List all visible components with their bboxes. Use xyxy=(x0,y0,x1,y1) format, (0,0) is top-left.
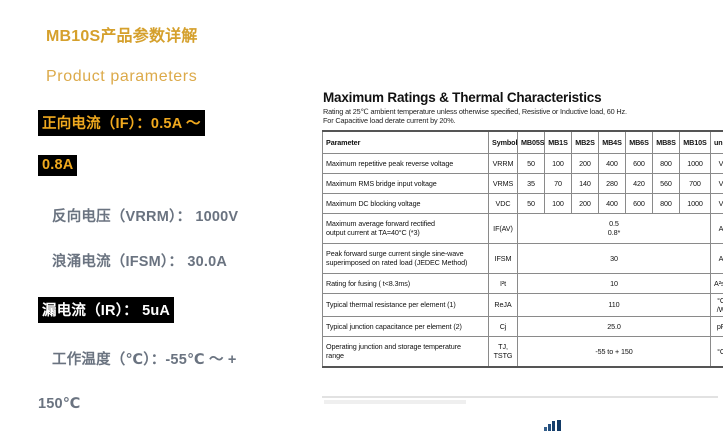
page-subtitle: Product parameters xyxy=(46,68,197,86)
table-row: Maximum repetitive peak reverse voltage … xyxy=(323,153,723,173)
row-parameter-line1: Peak forward surge current single sine-w… xyxy=(326,249,464,258)
col-header-unit: unit xyxy=(711,131,723,154)
spec-leakage-current: 漏电流（IR）： 5uA xyxy=(38,297,174,323)
row-merged-value: 10 xyxy=(518,273,711,293)
row-value: 800 xyxy=(653,193,680,213)
maximum-ratings-table: Parameter Symbol MB05S MB1S MB2S MB4S MB… xyxy=(322,130,723,368)
row-symbol: VDC xyxy=(489,193,518,213)
row-parameter-line1: Operating junction and storage temperatu… xyxy=(326,342,461,351)
row-value: 100 xyxy=(545,153,572,173)
row-merged-value: 0.5 0.8* xyxy=(518,213,711,243)
row-unit: A xyxy=(711,213,723,243)
row-symbol-line1: TJ, xyxy=(498,342,508,351)
row-symbol: VRRM xyxy=(489,153,518,173)
row-symbol: IFSM xyxy=(489,243,518,273)
table-row: Operating junction and storage temperatu… xyxy=(323,336,723,367)
row-value: 420 xyxy=(626,173,653,193)
row-symbol: IF(AV) xyxy=(489,213,518,243)
row-symbol: TJ, TSTG xyxy=(489,336,518,367)
col-header-mb05s: MB05S xyxy=(518,131,545,154)
row-value: 600 xyxy=(626,193,653,213)
row-unit: A²sec xyxy=(711,273,723,293)
row-value: 800 xyxy=(653,153,680,173)
row-value: 50 xyxy=(518,193,545,213)
page-title: MB10S产品参数详解 xyxy=(46,22,198,46)
spec-reverse-voltage: 反向电压（VRRM）： 1000V xyxy=(52,205,238,226)
table-header-row: Parameter Symbol MB05S MB1S MB2S MB4S MB… xyxy=(323,131,723,154)
row-parameter: Maximum DC blocking voltage xyxy=(323,193,489,213)
row-merged-value: 110 xyxy=(518,293,711,316)
row-merged-value: 30 xyxy=(518,243,711,273)
row-value: 50 xyxy=(518,153,545,173)
row-value: 400 xyxy=(599,193,626,213)
row-value: 600 xyxy=(626,153,653,173)
spec-operating-temperature-line2: 150℃ xyxy=(38,396,81,412)
row-unit: A xyxy=(711,243,723,273)
row-unit: pF xyxy=(711,316,723,336)
row-value: 1000 xyxy=(680,193,711,213)
row-parameter: Peak forward surge current single sine-w… xyxy=(323,243,489,273)
table-row: Rating for fusing ( t<8.3ms) I²t 10 A²se… xyxy=(323,273,723,293)
spec-forward-current-line2: 0.8A xyxy=(38,155,77,176)
datasheet-note: Rating at 25℃ ambient temperature unless… xyxy=(323,107,717,126)
row-value: 400 xyxy=(599,153,626,173)
spec-forward-current-line1: 正向电流（IF）：0.5A ～ xyxy=(38,110,205,136)
row-merged-value: 25.0 xyxy=(518,316,711,336)
bar-chart-watermark-icon xyxy=(544,419,562,431)
row-value: 200 xyxy=(572,153,599,173)
col-header-parameter: Parameter xyxy=(323,131,489,154)
row-unit: V xyxy=(711,193,723,213)
row-value: 100 xyxy=(545,193,572,213)
row-merged-value: -55 to + 150 xyxy=(518,336,711,367)
row-parameter-line1: Maximum average forward rectified xyxy=(326,219,435,228)
row-value: 280 xyxy=(599,173,626,193)
row-parameter: Operating junction and storage temperatu… xyxy=(323,336,489,367)
col-header-mb8s: MB8S xyxy=(653,131,680,154)
datasheet-panel: Maximum Ratings & Thermal Characteristic… xyxy=(322,90,717,368)
spec-operating-temperature-line1: 工作温度（℃）：-55℃ ～ + xyxy=(52,348,237,369)
row-unit: °C xyxy=(711,336,723,367)
row-parameter: Maximum repetitive peak reverse voltage xyxy=(323,153,489,173)
table-row: Maximum DC blocking voltage VDC 50 100 2… xyxy=(323,193,723,213)
row-unit: °C /W xyxy=(711,293,723,316)
row-value: 560 xyxy=(653,173,680,193)
row-value: 700 xyxy=(680,173,711,193)
table-row: Typical junction capacitance per element… xyxy=(323,316,723,336)
row-merged-line2: 0.8* xyxy=(608,228,620,237)
datasheet-note-line1: Rating at 25℃ ambient temperature unless… xyxy=(323,107,627,116)
row-symbol: I²t xyxy=(489,273,518,293)
col-header-mb6s: MB6S xyxy=(626,131,653,154)
row-value: 35 xyxy=(518,173,545,193)
row-parameter: Maximum average forward rectified output… xyxy=(323,213,489,243)
scan-smudge-block xyxy=(324,400,466,404)
row-parameter: Typical thermal resistance per element (… xyxy=(323,293,489,316)
left-parameter-panel: MB10S产品参数详解 Product parameters 正向电流（IF）：… xyxy=(0,0,318,431)
row-value: 1000 xyxy=(680,153,711,173)
row-parameter-line2: output current at TA=40°C (*3) xyxy=(326,228,420,237)
col-header-mb2s: MB2S xyxy=(572,131,599,154)
row-value: 70 xyxy=(545,173,572,193)
table-row: Peak forward surge current single sine-w… xyxy=(323,243,723,273)
col-header-mb10s: MB10S xyxy=(680,131,711,154)
row-unit: V xyxy=(711,173,723,193)
row-symbol: ReJA xyxy=(489,293,518,316)
row-parameter: Typical junction capacitance per element… xyxy=(323,316,489,336)
row-symbol: VRMS xyxy=(489,173,518,193)
datasheet-heading: Maximum Ratings & Thermal Characteristic… xyxy=(323,90,717,105)
table-row: Maximum average forward rectified output… xyxy=(323,213,723,243)
col-header-symbol: Symbol xyxy=(489,131,518,154)
row-parameter-line2: superimposed on rated load (JEDEC Method… xyxy=(326,258,467,267)
col-header-mb4s: MB4S xyxy=(599,131,626,154)
row-symbol-line2: TSTG xyxy=(494,351,513,360)
scan-smudge-line xyxy=(322,396,718,398)
spec-surge-current: 浪涌电流（IFSM）： 30.0A xyxy=(52,250,227,271)
row-merged-line1: 0.5 xyxy=(609,219,619,228)
row-parameter-line2: range xyxy=(326,351,344,360)
row-value: 140 xyxy=(572,173,599,193)
table-row: Typical thermal resistance per element (… xyxy=(323,293,723,316)
row-unit: V xyxy=(711,153,723,173)
row-value: 200 xyxy=(572,193,599,213)
col-header-mb1s: MB1S xyxy=(545,131,572,154)
table-row: Maximum RMS bridge input voltage VRMS 35… xyxy=(323,173,723,193)
row-parameter: Rating for fusing ( t<8.3ms) xyxy=(323,273,489,293)
row-parameter: Maximum RMS bridge input voltage xyxy=(323,173,489,193)
row-symbol: Cj xyxy=(489,316,518,336)
datasheet-note-line2: For Capacitive load derate current by 20… xyxy=(323,116,455,125)
